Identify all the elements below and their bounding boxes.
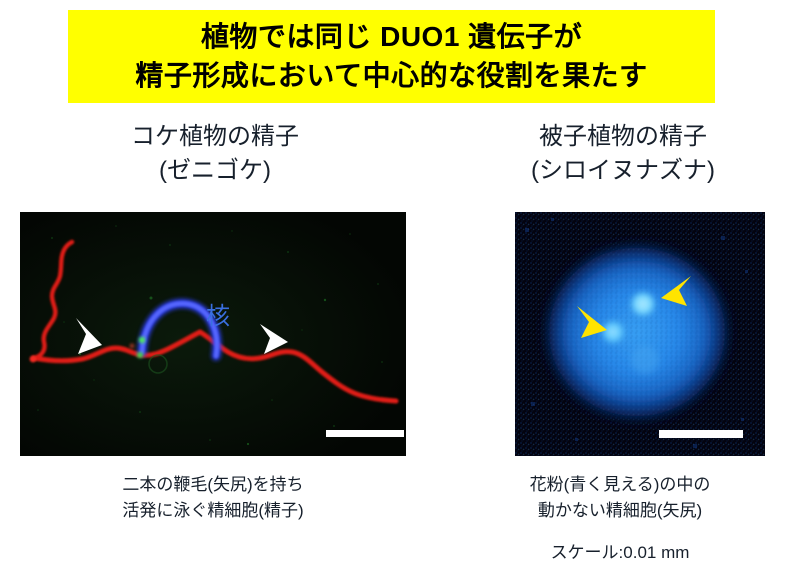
- caption-angiosperm-line-1: 花粉(青く見える)の中の: [455, 472, 785, 498]
- title-line-2: 精子形成において中心的な役割を果たす: [135, 57, 647, 96]
- title-banner: 植物では同じ DUO1 遺伝子が 精子形成において中心的な役割を果たす: [68, 10, 715, 103]
- arabidopsis-pollen-micrograph: [515, 212, 765, 456]
- caption-moss-line-2: 活発に泳ぐ精細胞(精子): [20, 498, 406, 524]
- panel-heading-moss-sub: (ゼニゴケ): [20, 154, 410, 188]
- panel-heading-moss-main: コケ植物の精子: [131, 123, 299, 150]
- caption-angiosperm-line-2: 動かない精細胞(矢尻): [455, 498, 785, 524]
- panel-heading-angiosperm: 被子植物の精子 (シロイヌナズナ): [468, 120, 778, 188]
- panel-heading-angiosperm-main: 被子植物の精子: [539, 123, 707, 150]
- scale-note: スケール:0.01 mm: [455, 538, 785, 563]
- caption-moss: 二本の鞭毛(矢尻)を持ち 活発に泳ぐ精細胞(精子): [20, 472, 406, 523]
- caption-angiosperm: 花粉(青く見える)の中の 動かない精細胞(矢尻): [455, 472, 785, 523]
- caption-moss-line-1: 二本の鞭毛(矢尻)を持ち: [20, 472, 406, 498]
- panel-heading-moss: コケ植物の精子 (ゼニゴケ): [20, 120, 410, 188]
- scale-bar: [659, 430, 743, 438]
- title-line-1: 植物では同じ DUO1 遺伝子が: [201, 18, 582, 57]
- panel-heading-angiosperm-sub: (シロイヌナズナ): [468, 154, 778, 188]
- nucleus-label: 核: [206, 303, 230, 330]
- pollen-image-canvas: [515, 212, 765, 456]
- scale-bar: [326, 430, 404, 437]
- moss-sperm-image-canvas: 核: [20, 212, 406, 456]
- moss-sperm-micrograph: 核: [20, 212, 406, 456]
